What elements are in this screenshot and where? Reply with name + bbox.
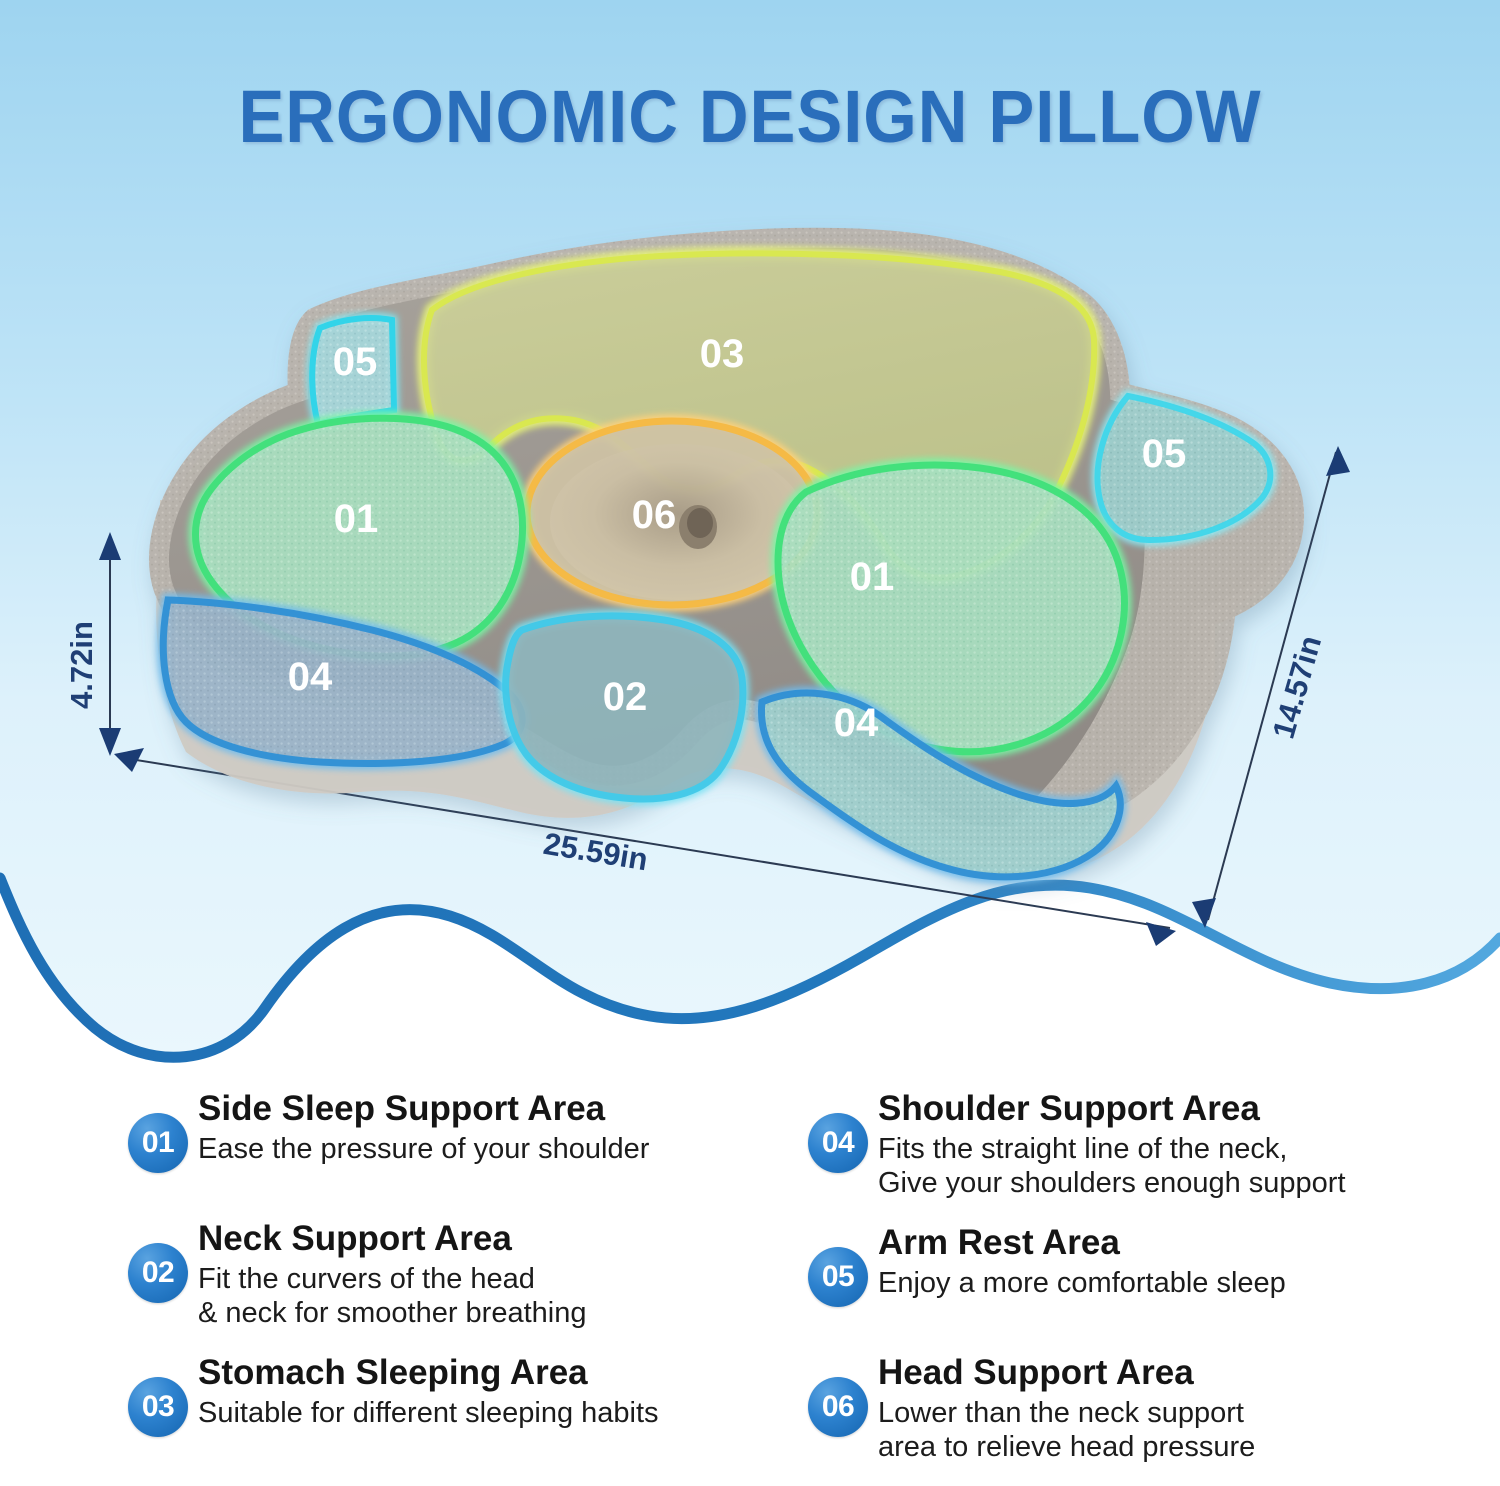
zone-label-04-left: 04 [288,655,333,699]
legend-text-06: Head Support Area Lower than the neck su… [878,1349,1448,1465]
legend-column-left: 01 Side Sleep Support Area Ease the pres… [128,1085,768,1479]
infographic-page: ERGONOMIC DESIGN PILLOW [0,0,1500,1486]
zone-05-arm-rest-left: 05 [312,318,394,424]
zone-label-04-right: 04 [834,701,879,745]
legend-title-02: Neck Support Area [198,1219,768,1259]
legend-item-02[interactable]: 02 Neck Support Area Fit the curvers of … [128,1215,768,1331]
depth-dim-arrow-top [1326,446,1350,476]
legend-item-05[interactable]: 05 Arm Rest Area Enjoy a more comfortabl… [808,1219,1448,1331]
legend-badge-05: 05 [808,1247,868,1307]
legend-item-03[interactable]: 03 Stomach Sleeping Area Suitable for di… [128,1349,768,1461]
depth-dimension-label: 14.57in [1266,632,1329,743]
legend-title-06: Head Support Area [878,1353,1448,1393]
zone-label-02: 02 [603,675,648,719]
zone-05-arm-rest-right: 05 [1098,396,1271,540]
legend-title-01: Side Sleep Support Area [198,1089,768,1129]
zone-label-01-left: 01 [334,497,379,541]
legend-badge-04: 04 [808,1113,868,1173]
legend-desc-02: Fit the curvers of the head & neck for s… [198,1262,768,1330]
zone-label-05-right: 05 [1142,432,1187,476]
legend-desc-05: Enjoy a more comfortable sleep [878,1266,1448,1300]
legend-desc-03: Suitable for different sleeping habits [198,1396,768,1430]
legend-text-03: Stomach Sleeping Area Suitable for diffe… [198,1349,768,1430]
legend-text-01: Side Sleep Support Area Ease the pressur… [198,1085,768,1166]
legend-desc-06: Lower than the neck support area to reli… [878,1396,1448,1464]
zone-label-03: 03 [700,332,745,376]
width-dimension-label: 25.59in [541,826,650,878]
legend-text-05: Arm Rest Area Enjoy a more comfortable s… [878,1219,1448,1300]
zone-label-05-left: 05 [333,340,378,384]
height-dim-arrow-top [99,532,121,560]
legend-badge-06: 06 [808,1377,868,1437]
legend-badge-01: 01 [128,1113,188,1173]
legend-title-03: Stomach Sleeping Area [198,1353,768,1393]
feature-legend: 01 Side Sleep Support Area Ease the pres… [0,1085,1500,1486]
depth-dim-arrow-bottom [1192,898,1216,928]
legend-text-04: Shoulder Support Area Fits the straight … [878,1085,1448,1201]
legend-text-02: Neck Support Area Fit the curvers of the… [198,1215,768,1331]
legend-title-05: Arm Rest Area [878,1223,1448,1263]
height-dimension-label: 4.72in [64,621,99,709]
legend-desc-01: Ease the pressure of your shoulder [198,1132,768,1166]
legend-item-06[interactable]: 06 Head Support Area Lower than the neck… [808,1349,1448,1465]
legend-badge-02: 02 [128,1243,188,1303]
legend-badge-03: 03 [128,1377,188,1437]
legend-column-right: 04 Shoulder Support Area Fits the straig… [808,1085,1448,1482]
legend-item-01[interactable]: 01 Side Sleep Support Area Ease the pres… [128,1085,768,1197]
legend-title-04: Shoulder Support Area [878,1089,1448,1129]
zone-02-neck-support: 02 [506,616,743,799]
legend-item-04[interactable]: 04 Shoulder Support Area Fits the straig… [808,1085,1448,1201]
legend-desc-04: Fits the straight line of the neck, Give… [878,1132,1448,1200]
zone-label-01-right: 01 [850,555,895,599]
zone-label-06: 06 [632,493,677,537]
pillow-illustration: 4.72in 25.59in 14.57in 03 06 [0,0,1500,1080]
height-dim-arrow-bottom [99,728,121,756]
